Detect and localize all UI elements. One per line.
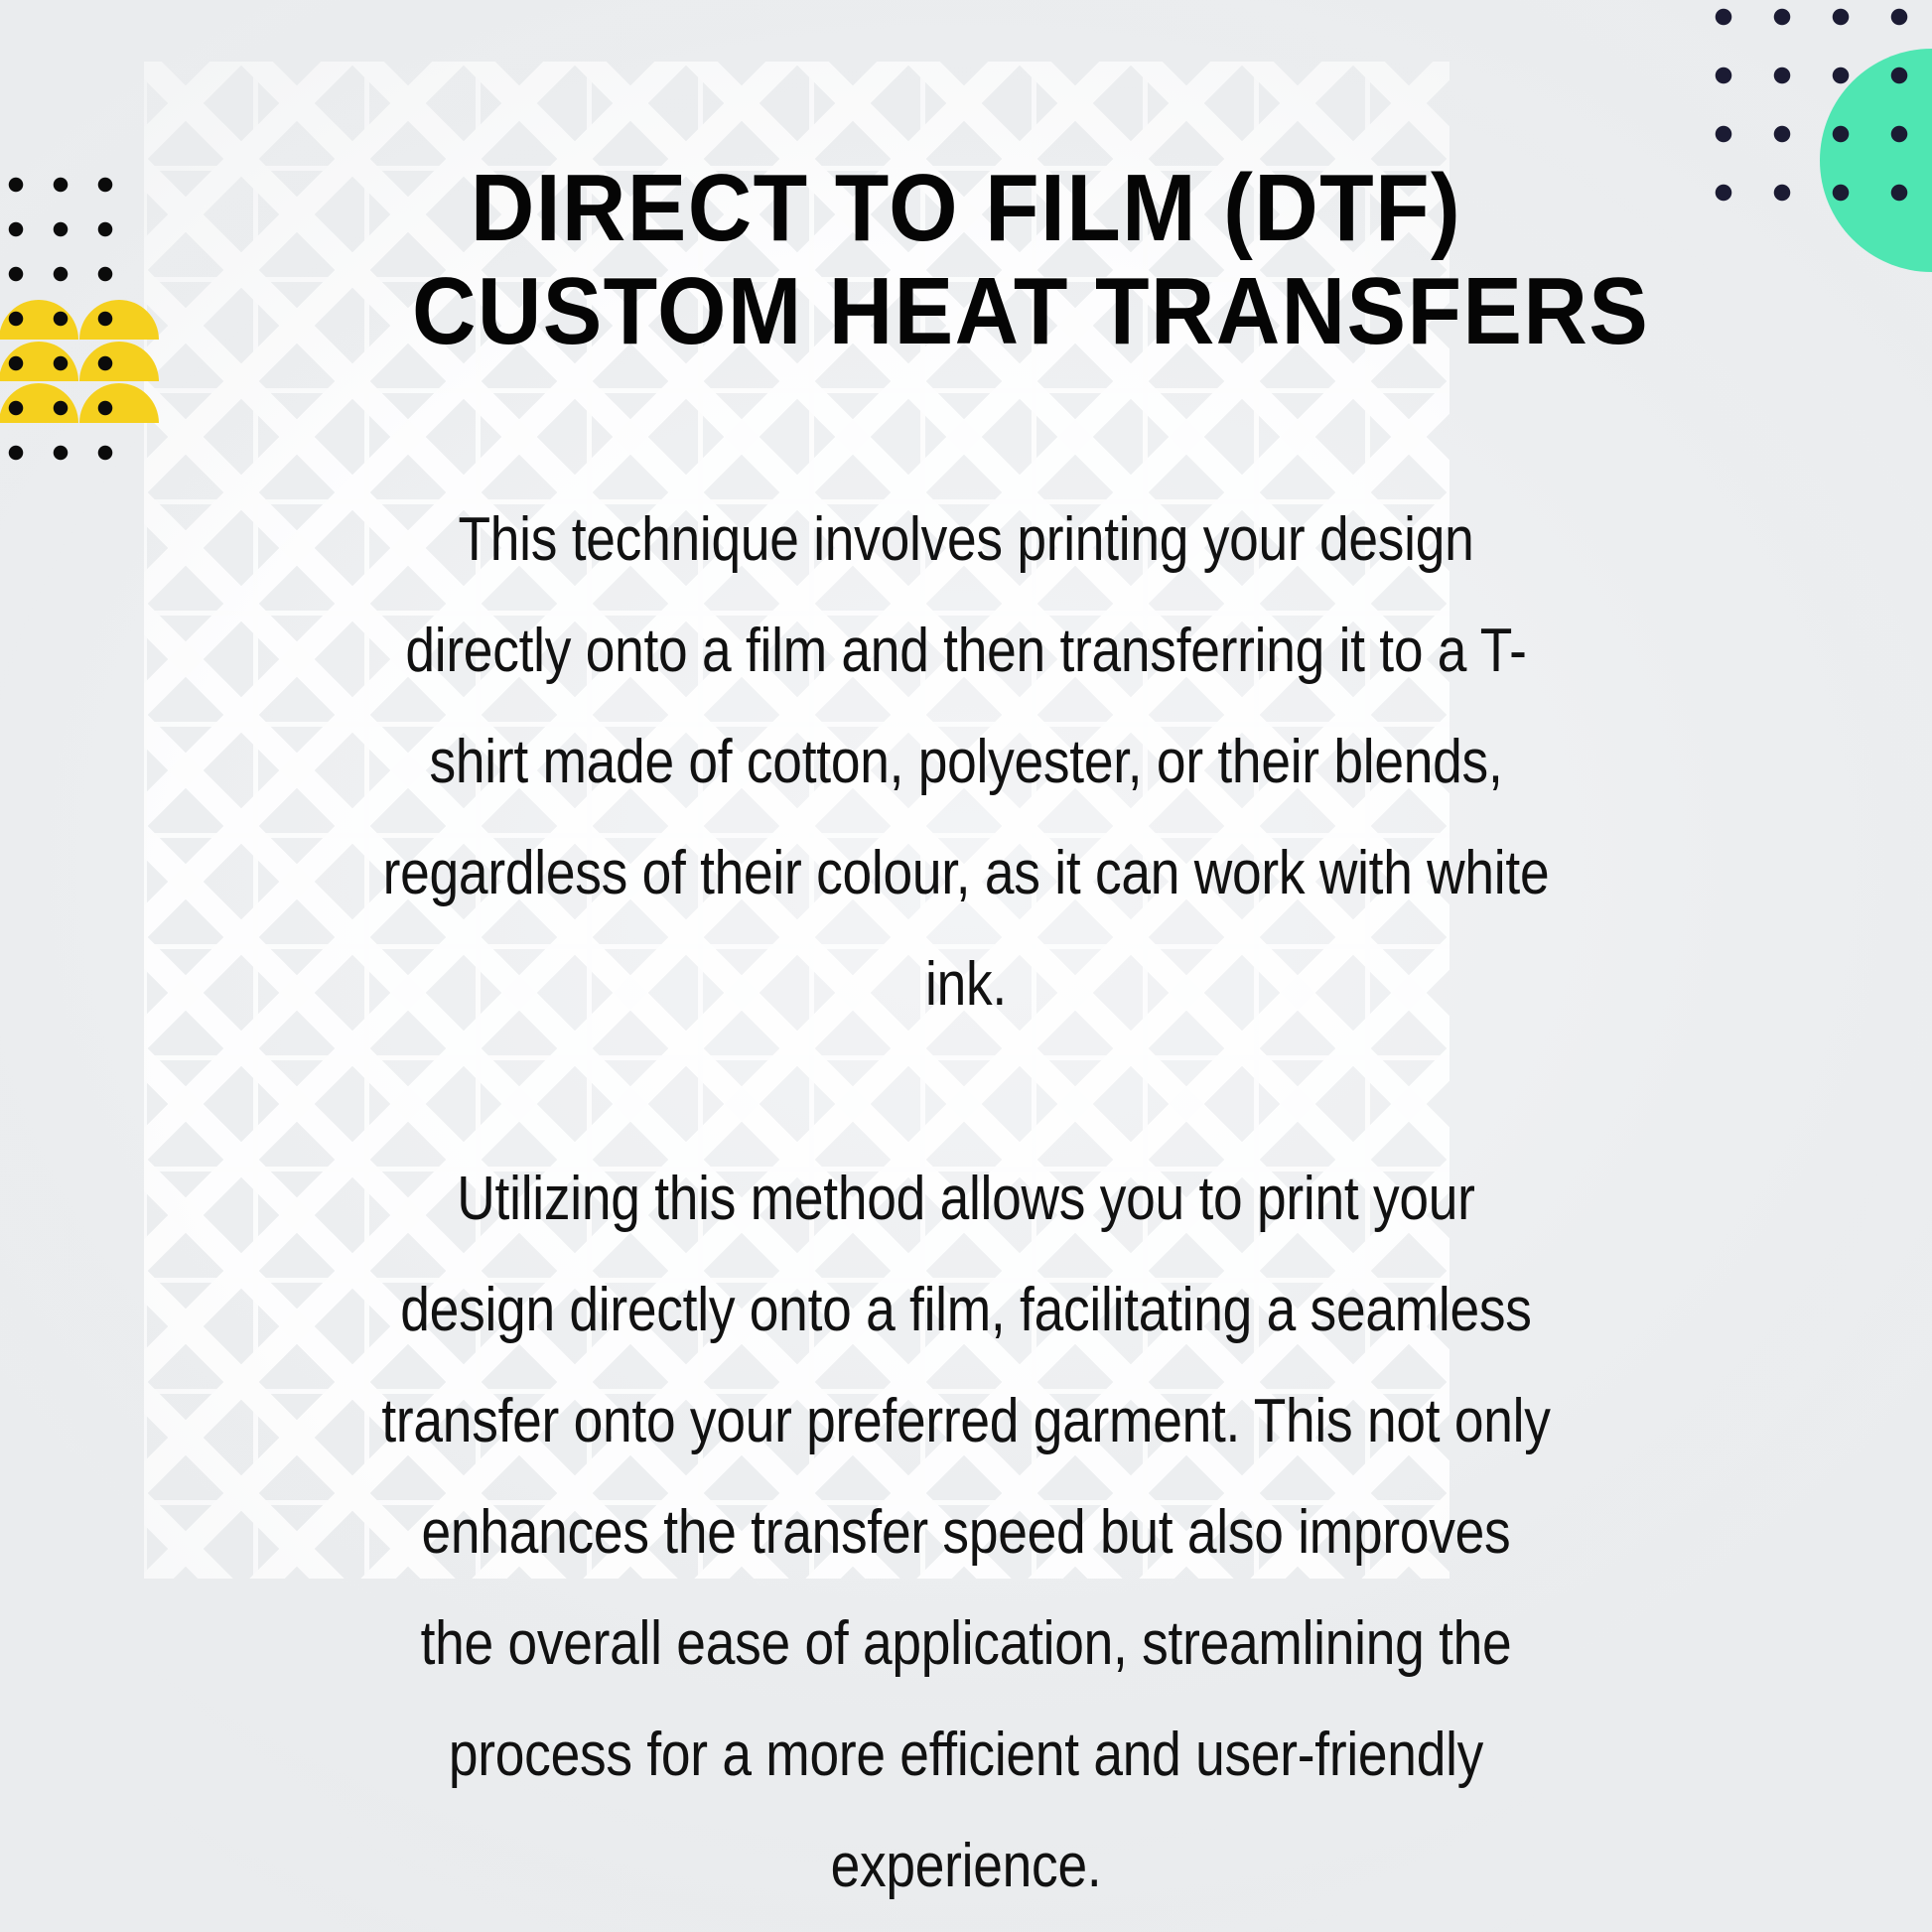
body-paragraph-1: This technique involves printing your de… <box>381 484 1551 1040</box>
poster-canvas: DIRECT TO FILM (DTF) CUSTOM HEAT TRANSFE… <box>0 0 1932 1932</box>
navy-dot-grid-decoration <box>1715 8 1923 216</box>
title-line-1: DIRECT TO FILM (DTF) <box>412 157 1520 260</box>
page-title: DIRECT TO FILM (DTF) CUSTOM HEAT TRANSFE… <box>370 157 1562 363</box>
poster-content: DIRECT TO FILM (DTF) CUSTOM HEAT TRANSFE… <box>0 0 1932 1932</box>
body-paragraph-2: Utilizing this method allows you to prin… <box>381 1144 1551 1922</box>
black-dot-grid-decoration <box>8 177 115 465</box>
body-copy: This technique involves printing your de… <box>286 484 1646 1922</box>
title-line-2: CUSTOM HEAT TRANSFERS <box>412 260 1520 363</box>
